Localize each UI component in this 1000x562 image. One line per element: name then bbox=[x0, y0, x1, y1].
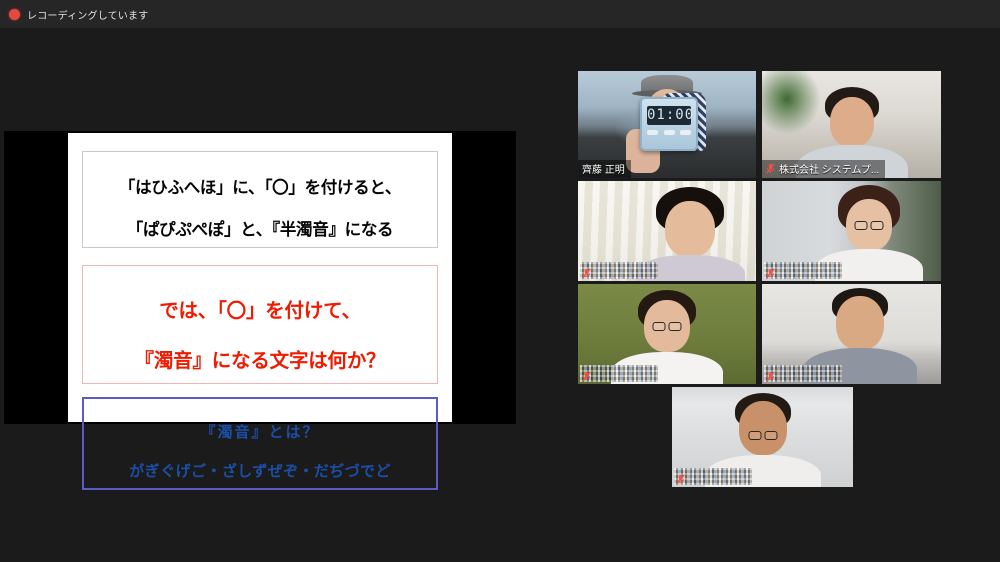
mic-muted-icon bbox=[766, 369, 775, 380]
video-tile-p6[interactable] bbox=[762, 284, 941, 384]
shared-screen-stage[interactable]: 「はひふへほ」に、「〇」を付けると、 「ぱぴぷぺぽ」と、『半濁音』になる では、… bbox=[4, 131, 516, 424]
mic-muted-icon bbox=[766, 266, 775, 277]
participant-name-bar bbox=[764, 262, 842, 279]
participant-name-bar: 齊藤 正明 bbox=[578, 160, 631, 178]
slide-textbox-halfvoiced-rule: 「はひふへほ」に、「〇」を付けると、 「ぱぴぷぺぽ」と、『半濁音』になる bbox=[82, 151, 438, 248]
meeting-window: レコーディングしています 「はひふへほ」に、「〇」を付けると、 「ぱぴぷぺぽ」と… bbox=[0, 0, 1000, 562]
blurred-name-plate bbox=[580, 262, 658, 279]
blurred-name-plate bbox=[764, 365, 842, 382]
recording-bar: レコーディングしています bbox=[0, 0, 1000, 28]
participant-name-bar: 株式会社 システムプ... bbox=[762, 160, 885, 178]
video-tile-p4[interactable] bbox=[762, 181, 941, 281]
slide-definition-list: がぎぐげご・ざしずぜぞ・だぢづでど bbox=[129, 463, 391, 480]
video-tile-p2[interactable]: 株式会社 システムプ... bbox=[762, 71, 941, 178]
slide-line-1: 「はひふへほ」に、「〇」を付けると、 bbox=[119, 179, 401, 197]
slide-textbox-question: では、「〇」を付けて、 『濁音』になる文字は何か？ bbox=[82, 265, 438, 384]
recording-label: レコーディングしています bbox=[27, 7, 148, 22]
blurred-name-plate bbox=[674, 468, 752, 485]
video-tile-p1[interactable]: 01:00 齊藤 正明 bbox=[578, 71, 756, 178]
slide-line-2: 「ぱぴぷぺぽ」と、『半濁音』になる bbox=[127, 221, 394, 239]
timer-readout: 01:00 bbox=[647, 106, 691, 125]
participant-name-bar bbox=[580, 262, 658, 279]
mic-muted-icon bbox=[582, 369, 591, 380]
participant-name-bar bbox=[764, 365, 842, 382]
recording-dot-icon bbox=[9, 9, 20, 20]
blurred-name-plate bbox=[580, 365, 658, 382]
mic-muted-icon bbox=[582, 266, 591, 277]
video-tile-p5[interactable] bbox=[578, 284, 756, 384]
slide-question-line-1: では、「〇」を付けて、 bbox=[159, 300, 361, 322]
slide-definition-title: 『濁音』とは？ bbox=[88, 423, 432, 442]
mic-muted-icon bbox=[676, 472, 685, 483]
participant-name-bar bbox=[674, 468, 752, 485]
video-tile-p7[interactable] bbox=[672, 387, 853, 487]
video-tile-p3[interactable] bbox=[578, 181, 756, 281]
slide-textbox-dakuon-definition: 『濁音』とは？ がぎぐげご・ざしずぜぞ・だぢづでど bbox=[82, 397, 438, 490]
participant-name: 齊藤 正明 bbox=[582, 161, 625, 176]
mic-muted-icon bbox=[766, 163, 775, 174]
presentation-slide: 「はひふへほ」に、「〇」を付けると、 「ぱぴぷぺぽ」と、『半濁音』になる では、… bbox=[68, 133, 452, 422]
participant-name-bar bbox=[580, 365, 658, 382]
slide-question-line-2: 『濁音』になる文字は何か？ bbox=[135, 350, 386, 372]
participant-name: 株式会社 システムプ... bbox=[779, 161, 879, 176]
blurred-name-plate bbox=[764, 262, 842, 279]
